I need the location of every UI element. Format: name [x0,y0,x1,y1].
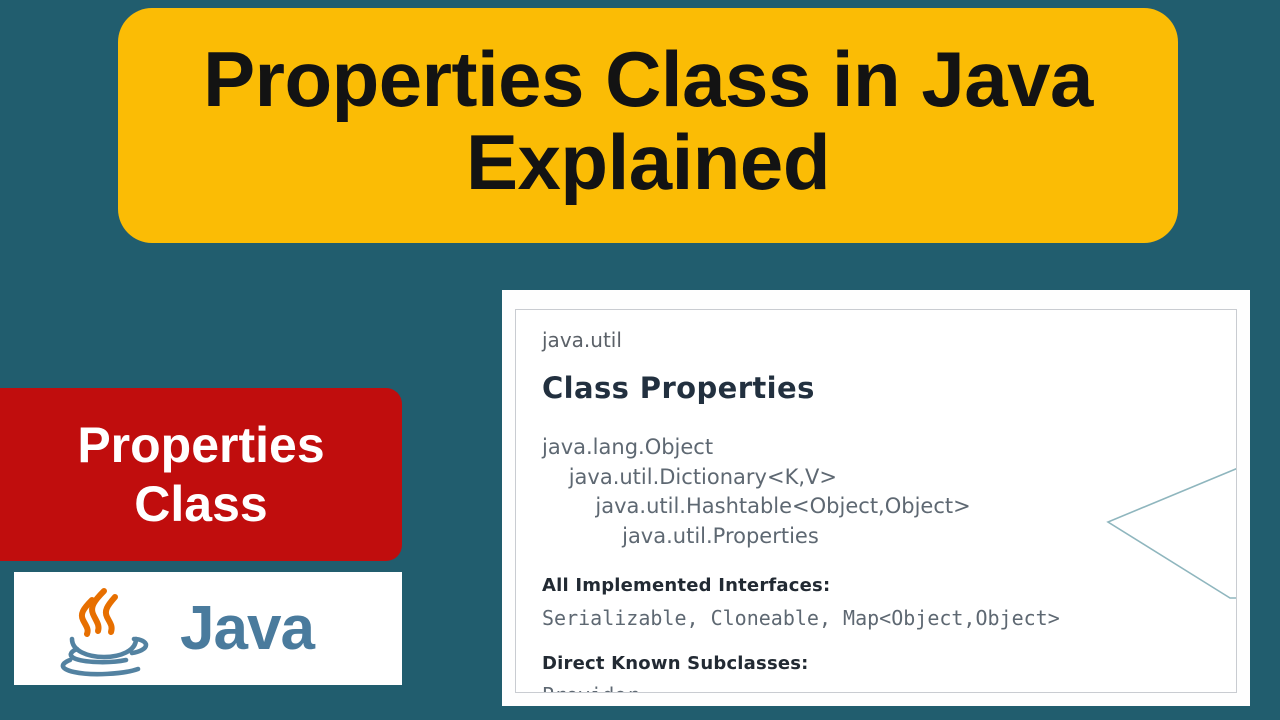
inheritance-line: java.util.Dictionary<K,V> [542,463,1236,493]
java-logo-card: Java [14,572,402,685]
title-banner: Properties Class in Java Explained [118,8,1178,243]
implemented-interfaces-label: All Implemented Interfaces: [542,575,1236,597]
inheritance-line: java.lang.Object [542,433,1236,463]
page-title-line-2: Explained [466,121,830,204]
slide-canvas: Properties Class in Java Explained Prope… [0,0,1280,720]
javadoc-inheritance-tree: java.lang.Object java.util.Dictionary<K,… [542,433,1236,552]
java-wordmark: Java [180,598,314,660]
direct-known-subclasses-value: Provider [542,683,1236,693]
badge-label-line-1: Properties [77,416,324,475]
inheritance-line: java.util.Hashtable<Object,Object> [542,492,1236,522]
javadoc-package-name: java.util [542,328,1236,352]
javadoc-panel: java.util Class Properties java.lang.Obj… [502,290,1250,706]
javadoc-class-heading: Class Properties [542,371,1236,406]
inheritance-line: java.util.Properties [542,522,1236,552]
java-coffee-cup-icon [46,581,158,677]
badge-label-line-2: Class [134,475,267,534]
javadoc-content-box: java.util Class Properties java.lang.Obj… [515,309,1237,693]
direct-known-subclasses-label: Direct Known Subclasses: [542,653,1236,675]
properties-class-badge: Properties Class [0,388,402,561]
implemented-interfaces-value: Serializable, Cloneable, Map<Object,Obje… [542,606,1236,630]
page-title-line-1: Properties Class in Java [203,38,1093,121]
